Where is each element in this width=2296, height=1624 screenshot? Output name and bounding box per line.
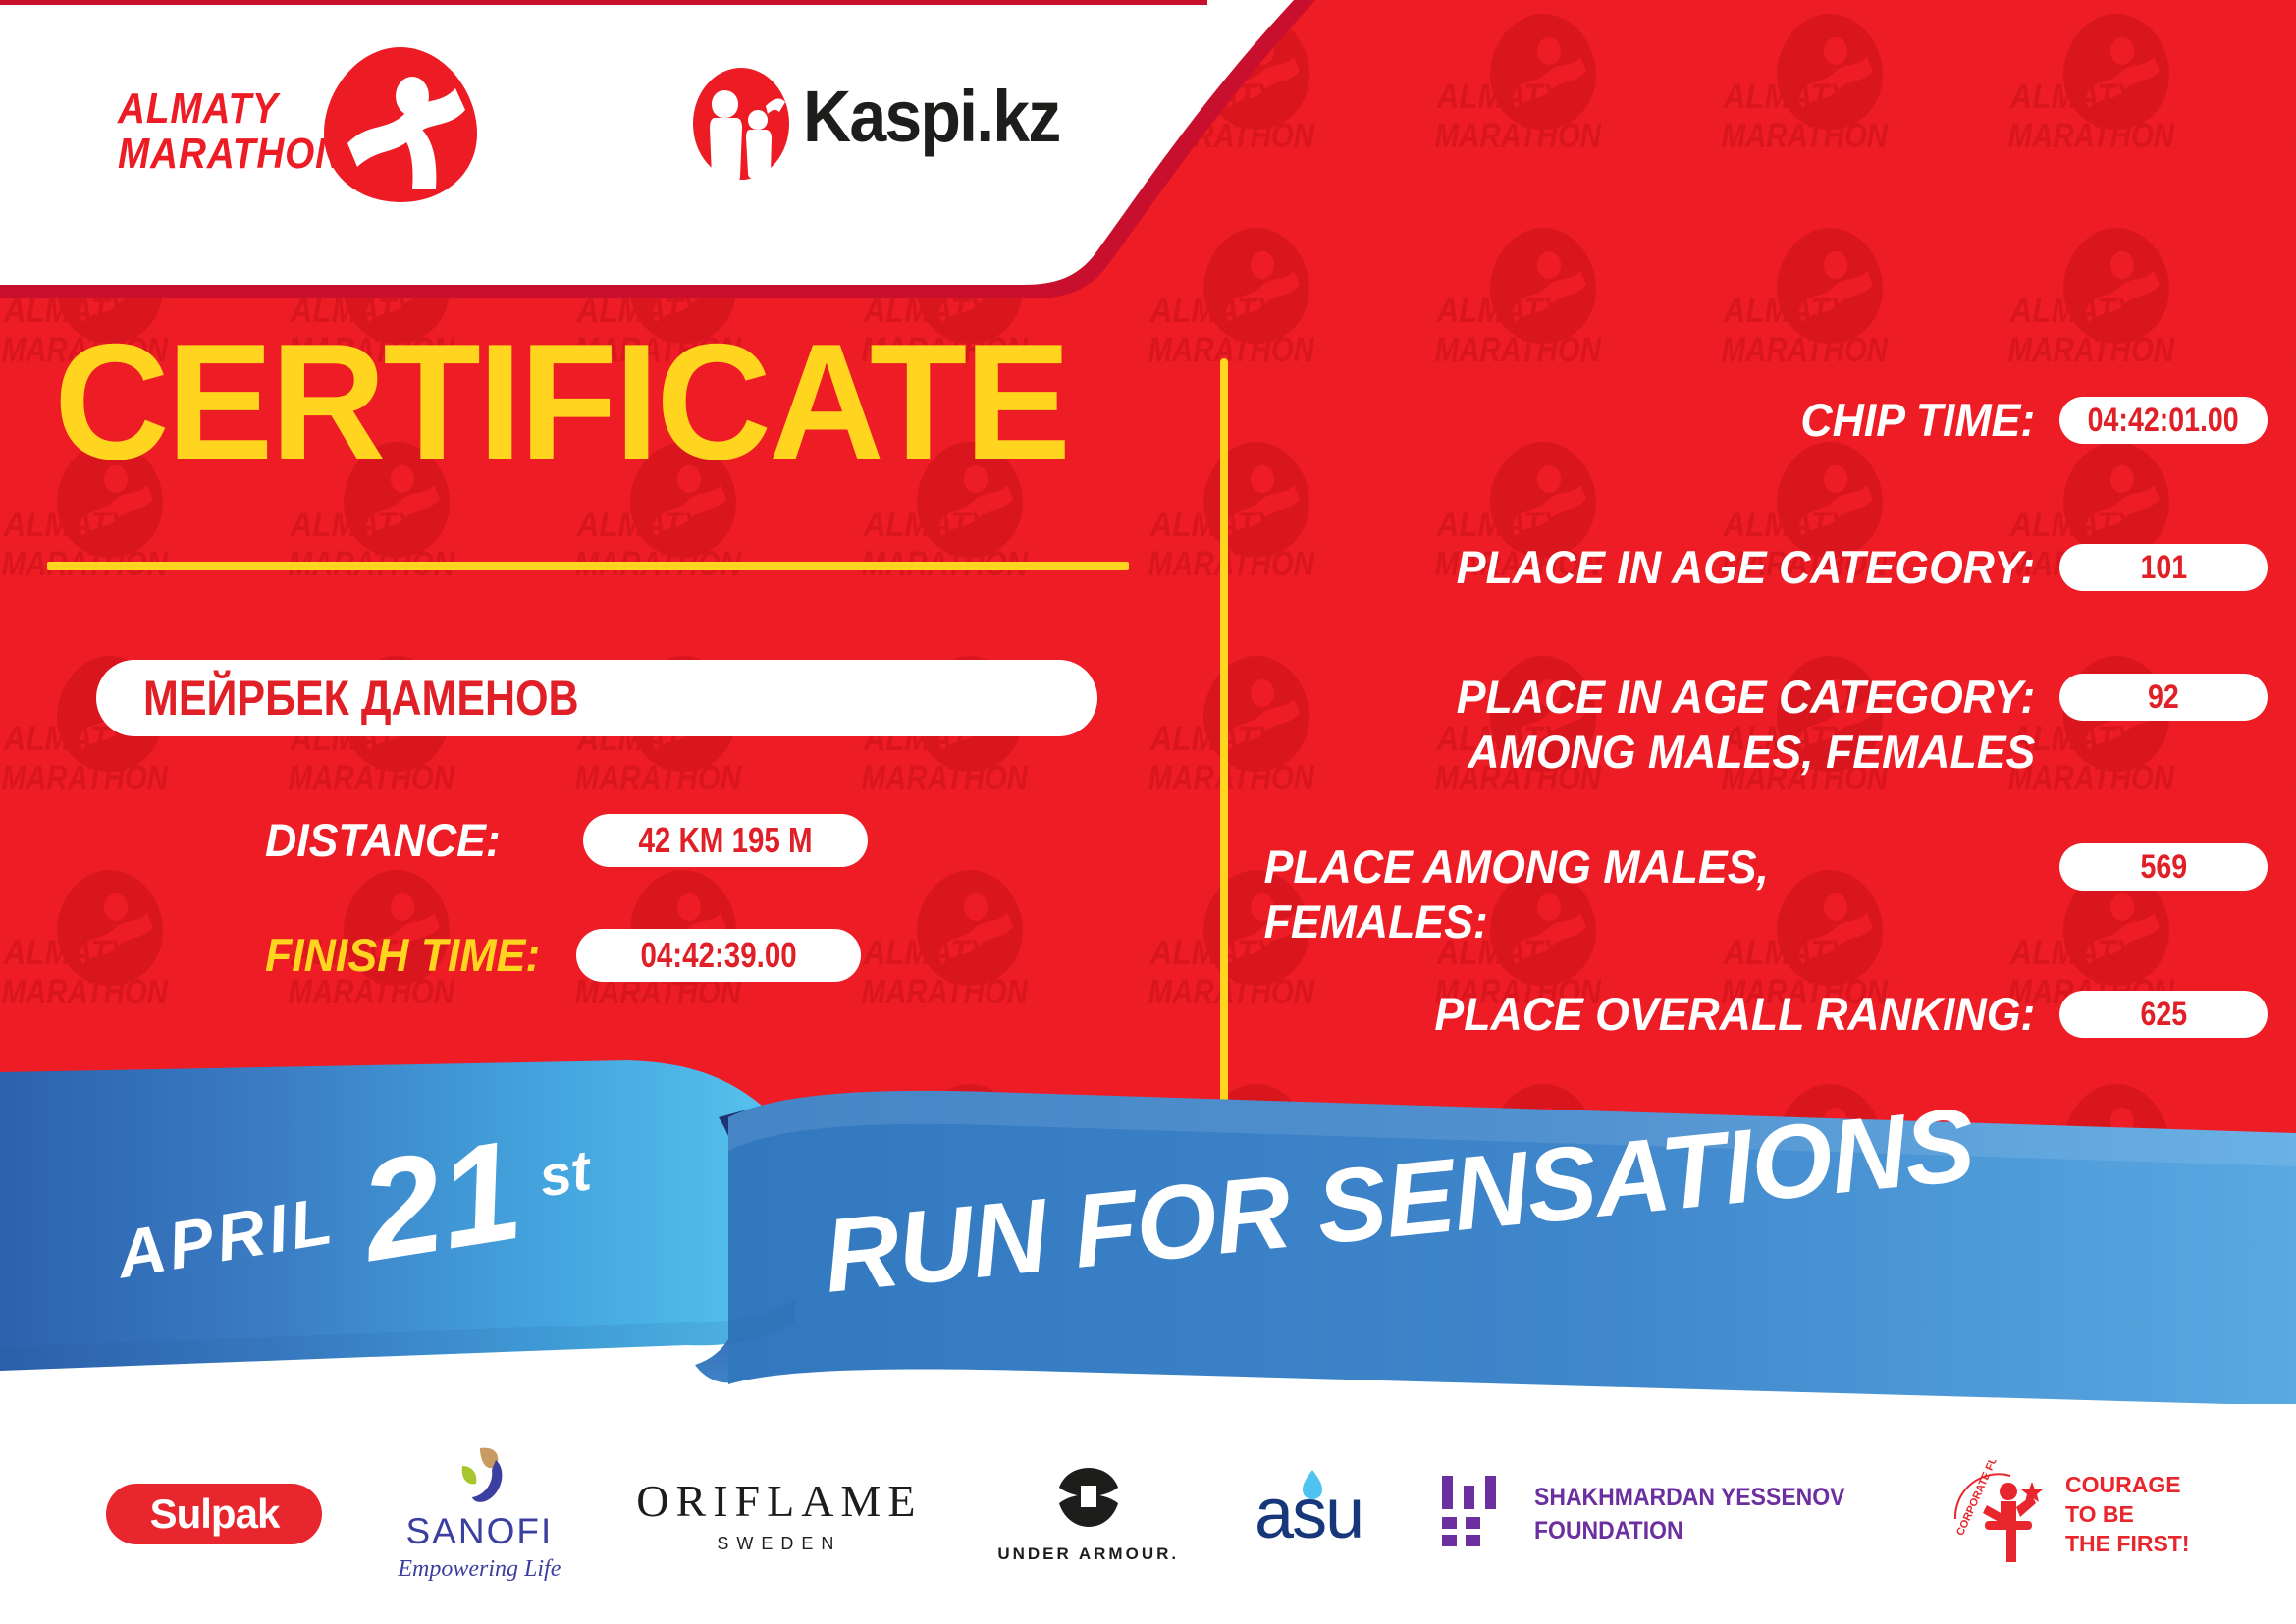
distance-label: DISTANCE: — [265, 813, 501, 867]
finish-time-value: 04:42:39.00 — [640, 935, 796, 976]
result-value-pill: 101 — [2059, 544, 2268, 591]
result-value-pill: 569 — [2059, 843, 2268, 891]
result-value: 04:42:01.00 — [2088, 402, 2239, 440]
courage-figure-icon: CORPORATE FUND — [1948, 1460, 2054, 1568]
result-value: 625 — [2140, 996, 2187, 1034]
event-day: 21 — [352, 1119, 530, 1283]
asu-wordmark: asu — [1255, 1474, 1362, 1554]
oriflame-tagline: SWEDEN — [717, 1534, 841, 1554]
title-underline — [47, 562, 1129, 570]
sponsor-oriflame: ORIFLAME SWEDEN — [636, 1475, 922, 1554]
participant-name-field: МЕЙРБЕК ДАМЕНОВ — [96, 660, 1097, 736]
under-armour-wordmark: UNDER ARMOUR. — [997, 1544, 1179, 1564]
sponsor-sanofi: SANOFI Empowering Life — [398, 1446, 561, 1583]
sponsor-yessenov: SHAKHMARDAN YESSENOV FOUNDATION — [1438, 1472, 1872, 1556]
result-value-pill: 625 — [2059, 991, 2268, 1038]
sponsor-under-armour: UNDER ARMOUR. — [997, 1464, 1179, 1564]
sanofi-wordmark: SANOFI — [406, 1511, 554, 1552]
kaspi-wordmark: Kaspi.kz — [803, 75, 1059, 158]
results-column: CHIP TIME: 04:42:01.00 PLACE IN AGE CATE… — [1256, 295, 2296, 1110]
result-label: PLACE AMONG MALES, FEMALES: — [1256, 839, 2019, 949]
result-label: CHIP TIME: — [1297, 393, 2059, 448]
sponsor-sulpak: Sulpak — [106, 1484, 322, 1544]
result-value: 92 — [2148, 678, 2179, 717]
sulpak-wordmark: Sulpak — [150, 1490, 280, 1538]
courage-wordmark: COURAGE TO BE THE FIRST! — [2065, 1470, 2190, 1558]
kaspi-logo: Kaspi.kz — [687, 67, 1099, 185]
result-label: PLACE IN AGE CATEGORY: — [1297, 540, 2059, 595]
sponsor-asu: asu — [1255, 1474, 1362, 1554]
yessenov-wordmark: SHAKHMARDAN YESSENOV FOUNDATION — [1534, 1481, 1845, 1547]
finish-time-value-pill: 04:42:39.00 — [576, 929, 861, 982]
yessenov-mark-icon — [1438, 1472, 1511, 1556]
sponsor-courage: CORPORATE FUND COURAGE TO BE THE FIRST! — [1948, 1460, 2190, 1568]
certificate-page: ALMATY MARATHON ALMATY MARATHON — [0, 0, 2296, 1624]
sanofi-mark-icon — [451, 1446, 507, 1507]
almaty-line: ALMATY — [118, 86, 316, 132]
result-row: PLACE IN AGE CATEGORY: 101 — [1256, 540, 2268, 595]
event-day-ordinal: st — [535, 1137, 595, 1210]
sanofi-tagline: Empowering Life — [398, 1556, 561, 1583]
almaty-marathon-logo: ALMATY MARATHON — [118, 49, 432, 206]
finish-time-label: FINISH TIME: — [265, 928, 540, 982]
kaspi-family-icon — [687, 67, 795, 185]
certificate-left-column: CERTIFICATE МЕЙРБЕК ДАМЕНОВ DISTANCE: 42… — [0, 295, 1198, 1100]
result-row: CHIP TIME: 04:42:01.00 — [1256, 393, 2268, 448]
column-divider — [1220, 358, 1228, 1105]
oriflame-wordmark: ORIFLAME — [636, 1475, 922, 1527]
marathon-line: MARATHON — [118, 132, 316, 177]
sulpak-logo: Sulpak — [106, 1484, 322, 1544]
sponsor-strip: Sulpak SANOFI Empowering Life ORIFLAME S… — [0, 1404, 2296, 1624]
almaty-marathon-wordmark: ALMATY MARATHON — [118, 86, 316, 177]
result-row: PLACE AMONG MALES, FEMALES: 569 — [1256, 839, 2268, 949]
result-value-pill: 04:42:01.00 — [2059, 397, 2268, 444]
event-month: APRIL — [112, 1182, 342, 1294]
result-label: PLACE IN AGE CATEGORY: AMONG MALES, FEMA… — [1297, 670, 2059, 780]
finish-time-row: FINISH TIME: 04:42:39.00 — [265, 928, 861, 982]
result-label: PLACE OVERALL RANKING: — [1297, 987, 2059, 1042]
result-row: PLACE OVERALL RANKING: 625 — [1256, 987, 2268, 1042]
result-value: 569 — [2140, 848, 2187, 887]
almaty-marathon-droplet-icon — [302, 41, 499, 208]
event-date: APRIL 21 st — [118, 1137, 667, 1314]
distance-row: DISTANCE: 42 KM 195 M — [265, 813, 868, 867]
result-value: 101 — [2140, 549, 2187, 587]
under-armour-logo-icon — [1026, 1464, 1151, 1537]
distance-value-pill: 42 KM 195 M — [583, 814, 868, 867]
result-row: PLACE IN AGE CATEGORY: AMONG MALES, FEMA… — [1256, 670, 2268, 780]
distance-value: 42 KM 195 M — [639, 820, 813, 861]
result-value-pill: 92 — [2059, 674, 2268, 721]
certificate-title: CERTIFICATE — [54, 319, 1068, 484]
header-logos: ALMATY MARATHON Kaspi.kz — [0, 0, 1178, 275]
participant-name: МЕЙРБЕК ДАМЕНОВ — [143, 670, 579, 727]
